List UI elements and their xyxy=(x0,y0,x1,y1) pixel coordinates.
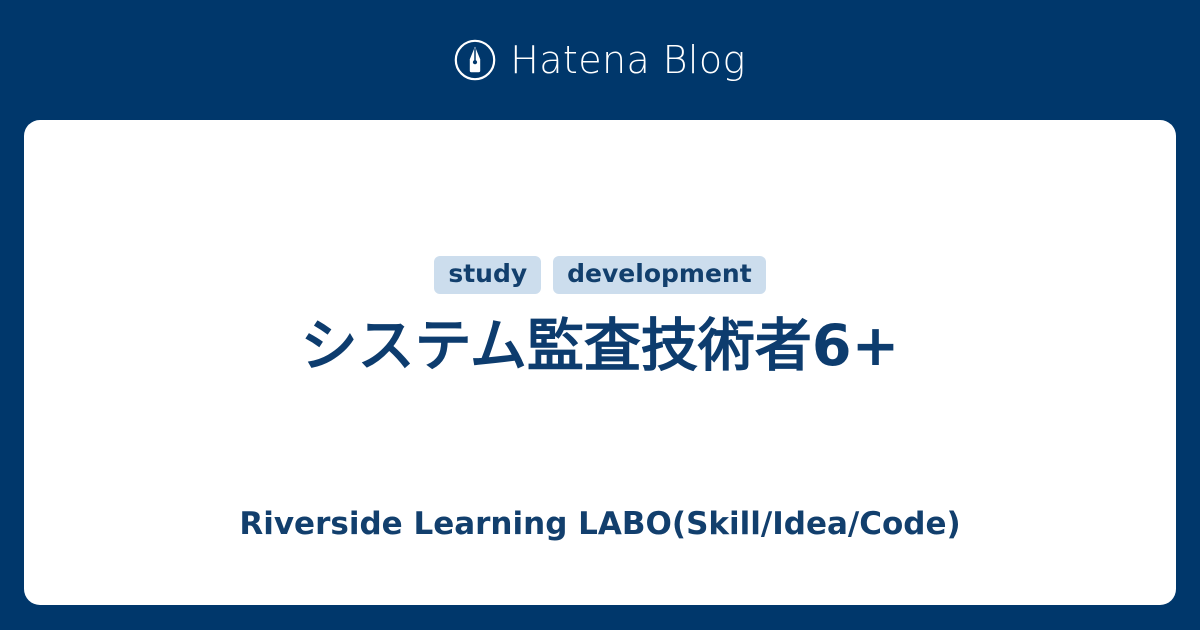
entry-title: システム監査技術者6+ xyxy=(301,312,900,382)
blog-title: Riverside Learning LABO(Skill/Idea/Code) xyxy=(24,506,1176,543)
tag-list: study development xyxy=(434,256,765,294)
brand-header: Hatena Blog xyxy=(0,0,1200,120)
tag-development[interactable]: development xyxy=(553,256,766,294)
tag-study[interactable]: study xyxy=(434,256,541,294)
hatena-pen-nib-icon xyxy=(454,39,496,81)
brand-name: Hatena Blog xyxy=(510,41,745,79)
entry-card: study development システム監査技術者6+ Riverside … xyxy=(24,120,1176,605)
